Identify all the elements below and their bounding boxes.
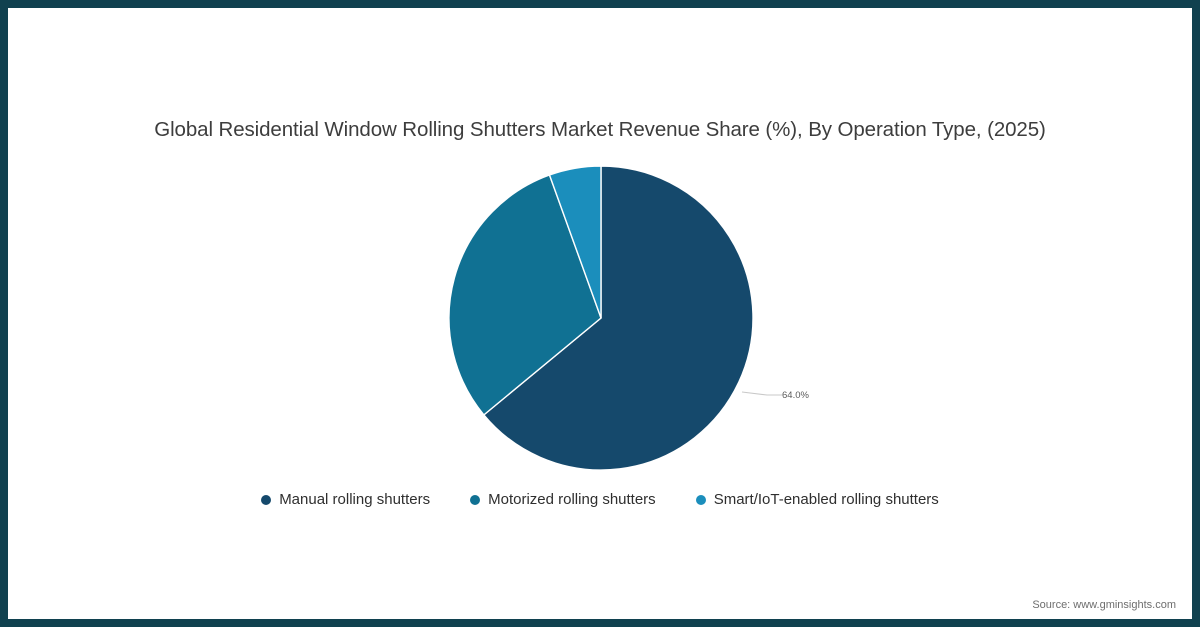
leader-line-64 bbox=[742, 392, 782, 395]
circle-marker-icon bbox=[470, 495, 480, 505]
pie-slice-group bbox=[449, 166, 753, 470]
circle-marker-icon bbox=[261, 495, 271, 505]
legend-item-motorized[interactable]: Motorized rolling shutters bbox=[470, 491, 656, 508]
legend-item-manual[interactable]: Manual rolling shutters bbox=[261, 491, 430, 508]
pie-chart: 64.0% bbox=[445, 162, 757, 474]
circle-marker-icon bbox=[696, 495, 706, 505]
legend-label: Smart/IoT-enabled rolling shutters bbox=[714, 491, 939, 508]
legend-label: Manual rolling shutters bbox=[279, 491, 430, 508]
source-attribution: Source: www.gminsights.com bbox=[1032, 599, 1176, 611]
chart-canvas: Global Residential Window Rolling Shutte… bbox=[8, 8, 1192, 619]
chart-legend: Manual rolling shutters Motorized rollin… bbox=[8, 491, 1192, 508]
page-title: Global Residential Window Rolling Shutte… bbox=[8, 118, 1192, 142]
chart-frame: Global Residential Window Rolling Shutte… bbox=[0, 0, 1200, 627]
legend-item-smart-iot[interactable]: Smart/IoT-enabled rolling shutters bbox=[696, 491, 939, 508]
pie-svg bbox=[445, 162, 757, 474]
pie-slice-label-manual: 64.0% bbox=[782, 390, 809, 401]
legend-label: Motorized rolling shutters bbox=[488, 491, 656, 508]
